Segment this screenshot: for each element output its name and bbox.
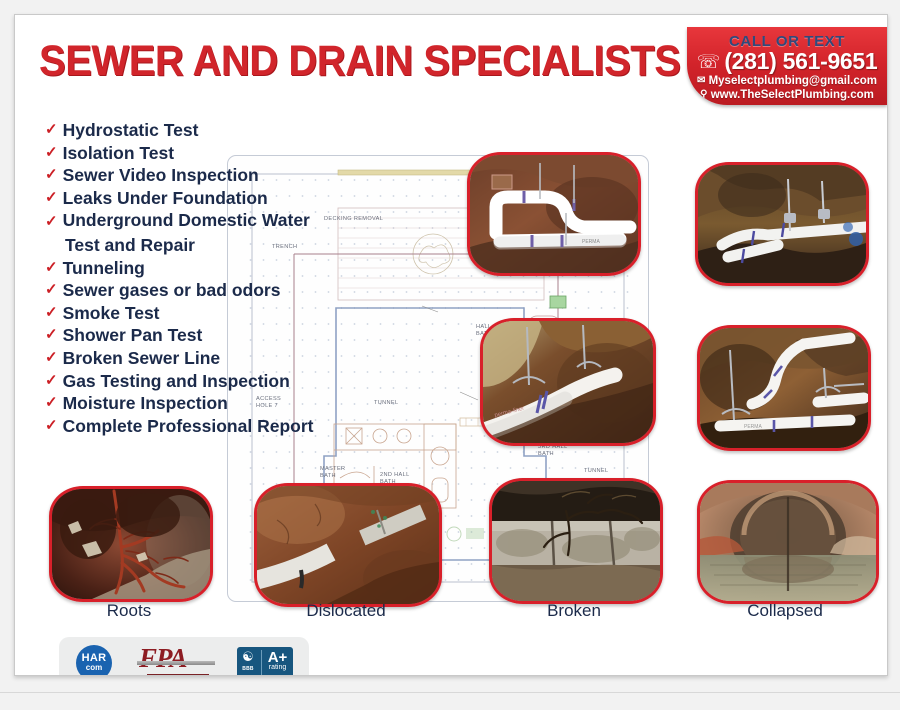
- svg-text:PERMA: PERMA: [744, 424, 762, 430]
- service-item: ✓Shower Pan Test: [45, 324, 317, 347]
- photo-image: [698, 165, 866, 283]
- check-circle-icon: ✓: [45, 347, 58, 370]
- email-row[interactable]: ✉ Myselectplumbing@gmail.com: [687, 74, 887, 88]
- photo-dislocated[interactable]: [254, 483, 442, 607]
- service-label: Moisture Inspection: [63, 392, 228, 415]
- service-label: Hydrostatic Test: [63, 119, 199, 142]
- fpa-logo[interactable]: FPA: [139, 644, 213, 676]
- fpa-logo-label: FPA: [139, 644, 213, 672]
- photo-collapsed[interactable]: [697, 480, 879, 604]
- service-item: ✓Tunneling: [45, 257, 317, 280]
- check-circle-icon: ✓: [45, 119, 58, 142]
- fpa-logo-bar: [137, 661, 215, 665]
- check-circle-icon: ✓: [45, 279, 58, 302]
- blueprint-label: TUNNEL: [374, 400, 398, 407]
- service-item: ✓Gas Testing and Inspection: [45, 370, 317, 393]
- bbb-rating-label: rating: [262, 662, 293, 674]
- phone-icon: ☏: [697, 53, 721, 72]
- photo-tunnel-pipe-replacement[interactable]: [695, 162, 869, 286]
- photo-caption-collapsed: Collapsed: [697, 601, 873, 621]
- phone-number[interactable]: (281) 561-9651: [724, 49, 877, 74]
- har-logo-line2: com: [86, 663, 102, 673]
- contact-banner[interactable]: CALL OR TEXT ☏ (281) 561-9651 ✉ Myselect…: [687, 27, 887, 105]
- check-circle-icon: ✓: [45, 415, 58, 438]
- check-circle-icon: ✓: [45, 257, 58, 280]
- service-label: Gas Testing and Inspection: [63, 370, 290, 393]
- check-circle-icon: ✓: [45, 213, 58, 230]
- service-item: ✓Underground Domestic Water Test and Rep…: [45, 209, 317, 256]
- photo-image: [492, 481, 660, 601]
- photo-image: [700, 483, 876, 601]
- service-item: ✓Broken Sewer Line: [45, 347, 317, 370]
- photo-image: [257, 486, 439, 604]
- service-label: Isolation Test: [63, 142, 175, 165]
- photo-image: PERMA: [700, 328, 868, 448]
- check-circle-icon: ✓: [45, 187, 58, 210]
- bbb-rating: A+ rating: [262, 652, 293, 674]
- service-label: Sewer gases or bad odors: [63, 279, 281, 302]
- har-logo[interactable]: HAR com: [76, 645, 112, 676]
- website-address[interactable]: www.TheSelectPlumbing.com: [711, 89, 874, 101]
- page-bottom-divider: [0, 692, 900, 693]
- svg-text:PERMA: PERMA: [582, 239, 600, 245]
- service-label: Shower Pan Test: [63, 324, 203, 347]
- service-label: Tunneling: [63, 257, 145, 280]
- bbb-logo[interactable]: ☯BBB A+ rating: [237, 647, 293, 677]
- service-item: ✓Complete Professional Report: [45, 415, 317, 438]
- check-circle-icon: ✓: [45, 302, 58, 325]
- check-circle-icon: ✓: [45, 392, 58, 415]
- check-circle-icon: ✓: [45, 142, 58, 165]
- website-row[interactable]: ⚲ www.TheSelectPlumbing.com: [687, 88, 887, 102]
- flyer-page: SEWER AND DRAIN SPECIALISTS CALL OR TEXT…: [14, 14, 888, 676]
- photo-caption-broken: Broken: [489, 601, 659, 621]
- service-label: Leaks Under Foundation: [63, 187, 268, 210]
- service-item: ✓Moisture Inspection: [45, 392, 317, 415]
- service-item: ✓Sewer Video Inspection: [45, 164, 317, 187]
- photo-broken[interactable]: [489, 478, 663, 604]
- service-label: Smoke Test: [63, 302, 160, 325]
- globe-icon: ⚲: [700, 89, 707, 100]
- check-circle-icon: ✓: [45, 370, 58, 393]
- bbb-torch-icon: ☯BBB: [237, 650, 262, 676]
- photo-roots[interactable]: [49, 486, 213, 602]
- photo-image: perma-liner: [483, 321, 653, 443]
- photo-image: PERMA: [470, 155, 638, 273]
- photo-pvc-repair-trench[interactable]: PERMA: [467, 152, 641, 276]
- check-circle-icon: ✓: [45, 164, 58, 187]
- check-circle-icon: ✓: [45, 324, 58, 347]
- service-item: ✓Smoke Test: [45, 302, 317, 325]
- service-item: ✓Leaks Under Foundation: [45, 187, 317, 210]
- photo-tunnel-suspended-line[interactable]: perma-liner: [480, 318, 656, 446]
- service-list: ✓Hydrostatic Test ✓Isolation Test ✓Sewer…: [45, 119, 317, 437]
- email-address[interactable]: Myselectplumbing@gmail.com: [709, 75, 877, 87]
- blueprint-label: 3RD HALL BATH: [538, 444, 568, 458]
- phone-row[interactable]: ☏ (281) 561-9651: [687, 50, 887, 74]
- blueprint-label: TUNNEL: [584, 468, 608, 475]
- photo-caption-dislocated: Dislocated: [255, 601, 437, 621]
- fpa-logo-subtitle: [147, 674, 209, 676]
- service-label: Broken Sewer Line: [63, 347, 221, 370]
- service-label: Complete Professional Report: [63, 415, 314, 438]
- service-item: ✓Sewer gases or bad odors: [45, 279, 317, 302]
- har-logo-line1: HAR: [82, 653, 107, 663]
- service-label-line2: Test and Repair: [65, 234, 317, 257]
- service-item: ✓Hydrostatic Test: [45, 119, 317, 142]
- service-label: Underground Domestic Water: [63, 210, 310, 230]
- blueprint-label: MASTER BATH: [320, 466, 345, 480]
- page-title: SEWER AND DRAIN SPECIALISTS: [39, 37, 680, 86]
- bbb-torch-label: BBB: [237, 663, 259, 676]
- credentials-bar: HAR com FPA ☯BBB A+ rating: [59, 637, 309, 676]
- blueprint-label: DECKING REMOVAL: [324, 216, 383, 223]
- service-item: ✓Isolation Test: [45, 142, 317, 165]
- service-label: Sewer Video Inspection: [63, 164, 259, 187]
- envelope-icon: ✉: [697, 75, 705, 86]
- photo-underfloor-pvc-network[interactable]: PERMA: [697, 325, 871, 451]
- photo-image: [52, 489, 210, 599]
- photo-caption-roots: Roots: [49, 601, 209, 621]
